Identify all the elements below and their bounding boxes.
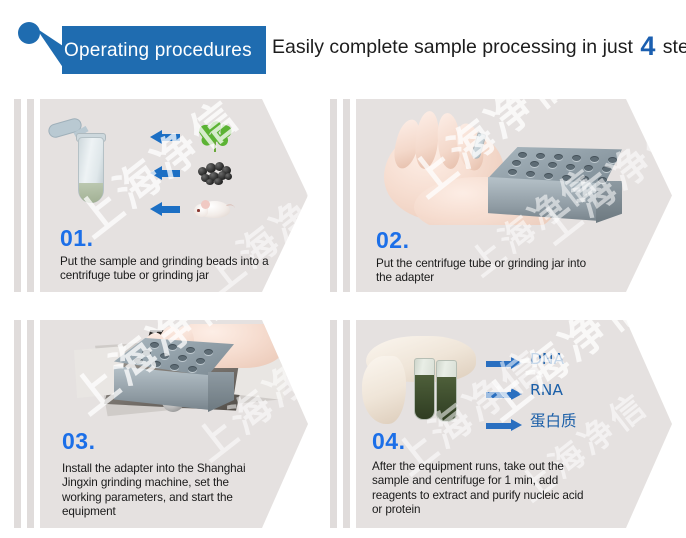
card-stripe xyxy=(27,99,34,292)
step-description: After the equipment runs, take out the s… xyxy=(372,460,588,518)
sample-tubes-photo xyxy=(362,336,522,432)
card-stripe xyxy=(343,99,350,292)
banner-label: Operating procedures xyxy=(64,36,270,66)
card-stripe xyxy=(343,320,350,528)
centrifuge-tube-icon xyxy=(70,121,130,211)
step-card-1[interactable]: 上海净信 上海净信 01. Put the sample and grindin… xyxy=(14,99,308,292)
step-card-3-panel: 上海净信 上海净信 03. Install the adapter into t… xyxy=(40,320,308,528)
adapter-loading-photo xyxy=(374,103,630,225)
step-number: 04. xyxy=(372,430,405,453)
step-description: Put the sample and grinding beads into a… xyxy=(60,255,272,284)
arrow-left-icon xyxy=(150,130,180,144)
leaf-icon xyxy=(198,121,232,151)
step-card-4-panel: DNA RNA 蛋白质 上海净信 上海净信 上海净信 04. After the… xyxy=(356,320,672,528)
step-card-4[interactable]: DNA RNA 蛋白质 上海净信 上海净信 上海净信 04. After the… xyxy=(330,320,672,528)
sample-tube-icon xyxy=(414,358,435,420)
tagline-before: Easily complete sample processing in jus… xyxy=(272,36,638,58)
tagline-step-count: 4 xyxy=(638,31,657,61)
step-card-2[interactable]: 上海净信 上海净信 上海净信 02. Put the centrifuge tu… xyxy=(330,99,672,292)
step-card-1-panel: 上海净信 上海净信 01. Put the sample and grindin… xyxy=(40,99,308,292)
page-title: Easily complete sample processing in jus… xyxy=(272,30,686,64)
operating-procedures-banner: Operating procedures xyxy=(18,22,266,76)
card-stripe xyxy=(330,320,337,528)
step-description: Install the adapter into the Shanghai Ji… xyxy=(62,462,266,520)
output-label-rna: RNA xyxy=(530,381,563,399)
card-stripe xyxy=(330,99,337,292)
card-stripe xyxy=(27,320,34,528)
step-number: 02. xyxy=(376,229,409,252)
arrow-left-icon xyxy=(150,202,180,216)
step-card-3[interactable]: 上海净信 上海净信 03. Install the adapter into t… xyxy=(14,320,308,528)
step-number: 01. xyxy=(60,227,93,250)
card-stripe xyxy=(14,99,21,292)
output-label-protein: 蛋白质 xyxy=(530,412,577,430)
arrow-right-icon xyxy=(486,388,522,401)
tagline-after: steps: xyxy=(657,36,686,58)
arrow-right-icon xyxy=(486,357,522,370)
adapter-block-icon xyxy=(478,147,628,225)
output-label-dna: DNA xyxy=(530,350,564,368)
arrow-left-icon xyxy=(150,166,180,180)
sample-tube-icon xyxy=(436,360,457,422)
adapter-block-icon xyxy=(108,338,238,412)
mouse-icon xyxy=(194,195,234,221)
step-description: Put the centrifuge tube or grinding jar … xyxy=(376,257,596,286)
card-stripe xyxy=(14,320,21,528)
header: Operating procedures Easily complete sam… xyxy=(0,0,686,86)
arrow-right-icon xyxy=(486,419,522,432)
step-number: 03. xyxy=(62,430,95,453)
grinding-machine-photo xyxy=(74,324,292,422)
grinding-beads-icon xyxy=(196,159,234,185)
step-card-2-panel: 上海净信 上海净信 上海净信 02. Put the centrifuge tu… xyxy=(356,99,672,292)
